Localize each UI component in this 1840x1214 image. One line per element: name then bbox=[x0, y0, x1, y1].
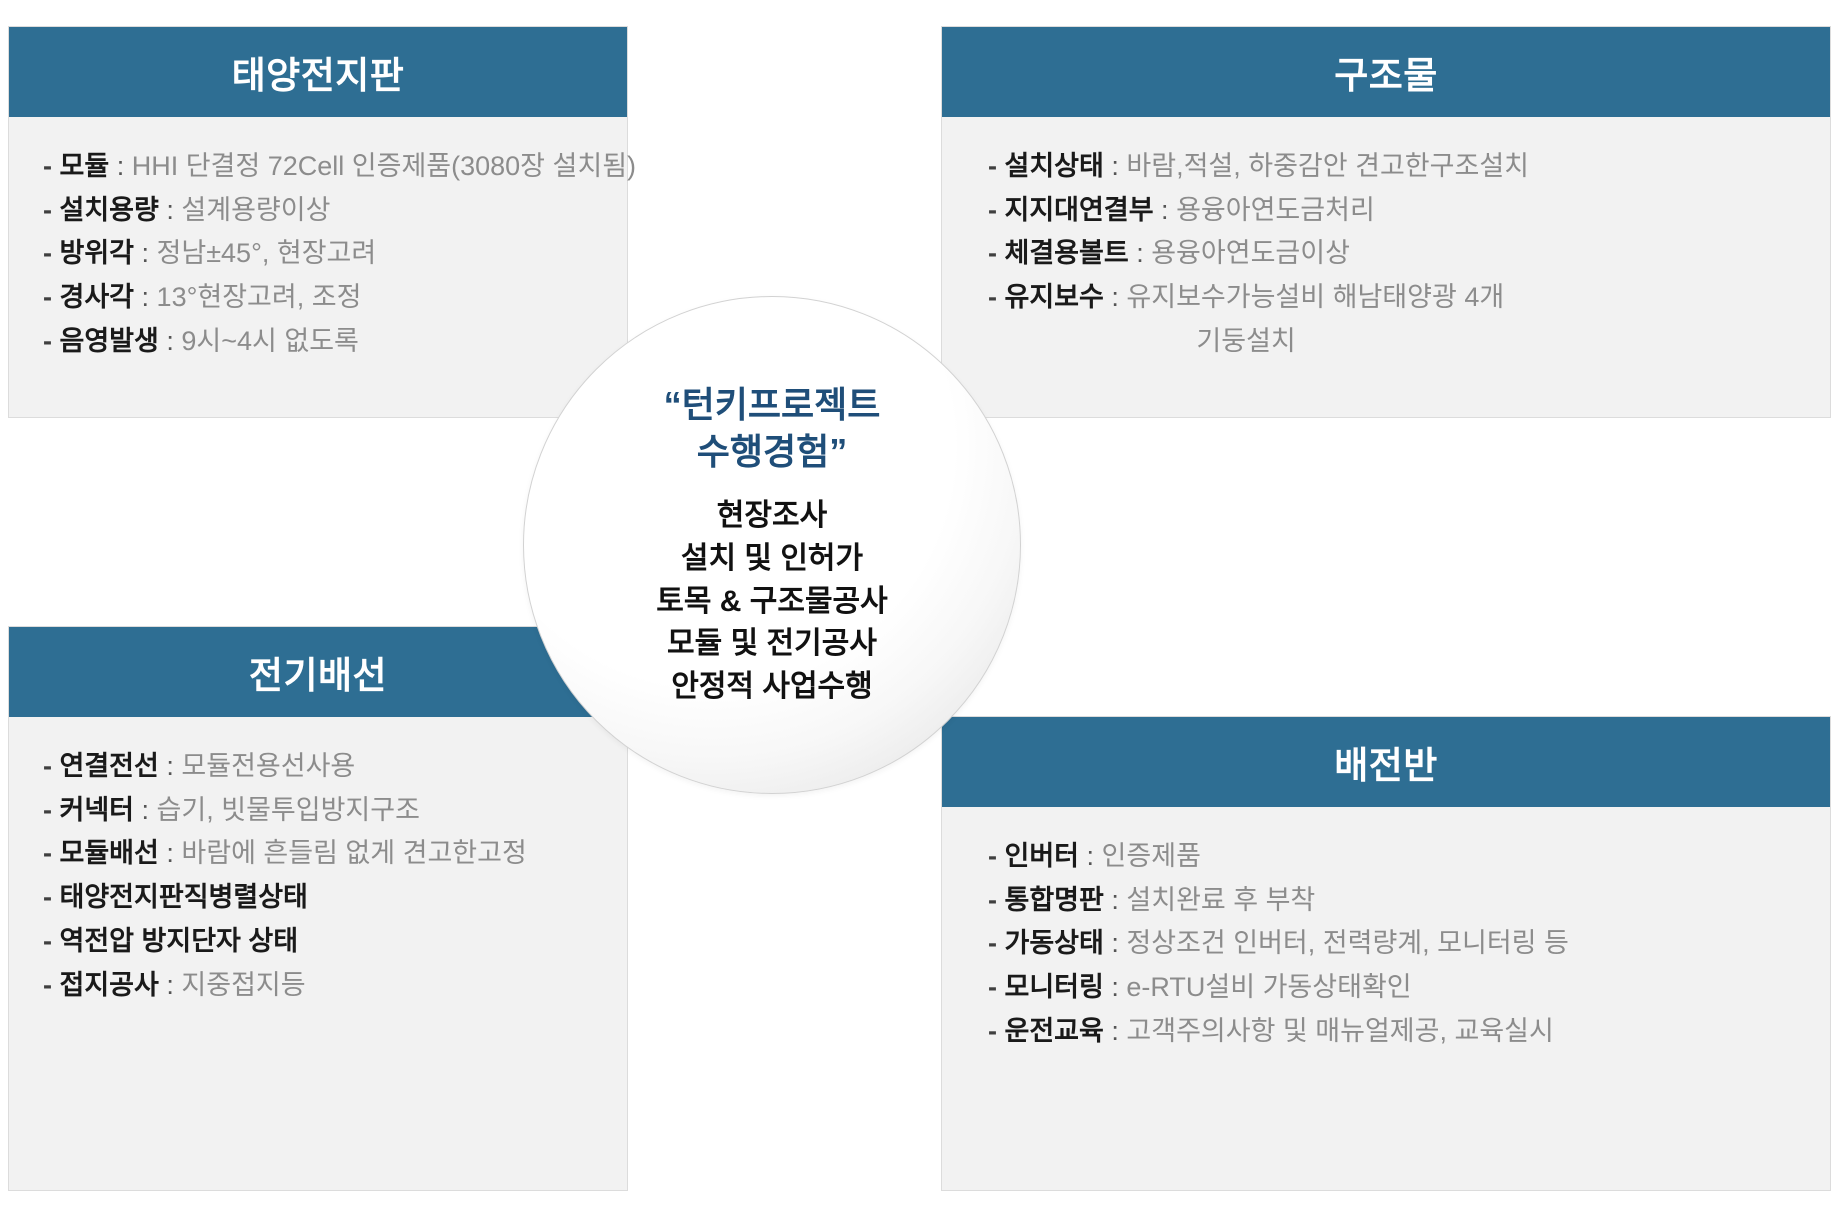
bullet-value-continued: 기둥설치 bbox=[988, 320, 1504, 364]
bullet-item: - 방위각 : 정남±45°, 현장고려 bbox=[43, 232, 376, 276]
bullet-item: - 경사각 : 13°현장고려, 조정 bbox=[43, 276, 361, 320]
bullet-item: - 통합명판 : 설치완료 후 부착 bbox=[988, 879, 1315, 923]
bullet-item: - 설치상태 : 바람,적설, 하중감안 견고한구조설치 bbox=[988, 145, 1529, 189]
bullet-item: - 운전교육 : 고객주의사항 및 매뉴얼제공, 교육실시 bbox=[988, 1010, 1554, 1054]
bullet-key: 연결전선 bbox=[60, 751, 159, 781]
bullet-dash: - bbox=[43, 882, 60, 912]
bullet-dash: - bbox=[988, 151, 1005, 181]
bullet-separator: : bbox=[1104, 972, 1127, 1002]
bullet-item: - 접지공사 : 지중접지등 bbox=[43, 964, 306, 1008]
bullet-separator: : bbox=[1104, 282, 1127, 312]
bullet-value: 설치완료 후 부착 bbox=[1126, 885, 1315, 915]
bullet-dash: - bbox=[43, 282, 60, 312]
center-circle-turnkey: “턴키프로젝트 수행경험” 현장조사설치 및 인허가토목 & 구조물공사모듈 및… bbox=[523, 296, 1021, 794]
bullet-dash: - bbox=[43, 838, 60, 868]
bullet-key: 역전압 방지단자 상태 bbox=[60, 926, 299, 956]
panel-switchboard-title: 배전반 bbox=[942, 717, 1830, 807]
bullet-separator: : bbox=[159, 838, 182, 868]
bullet-item: - 연결전선 : 모듈전용선사용 bbox=[43, 745, 355, 789]
bullet-key: 인버터 bbox=[1005, 841, 1080, 871]
panel-solar-body: - 모듈 : HHI 단결정 72Cell 인증제품(3080장 설치됨)- 설… bbox=[9, 117, 627, 374]
panel-wiring-title: 전기배선 bbox=[9, 627, 627, 717]
panel-solar-title: 태양전지판 bbox=[9, 27, 627, 117]
circle-subtext-line: 현장조사 bbox=[656, 495, 888, 538]
panel-structure-body: - 설치상태 : 바람,적설, 하중감안 견고한구조설치- 지지대연결부 : 용… bbox=[942, 117, 1830, 374]
bullet-value: 바람에 흔들림 없게 견고한고정 bbox=[181, 838, 526, 868]
bullet-key: 커넥터 bbox=[60, 795, 135, 825]
bullet-key: 모니터링 bbox=[1005, 972, 1104, 1002]
bullet-value: 용융아연도금처리 bbox=[1176, 195, 1375, 225]
bullet-item: - 모니터링 : e-RTU설비 가동상태확인 bbox=[988, 966, 1412, 1010]
bullet-dash: - bbox=[43, 970, 60, 1000]
bullet-dash: - bbox=[988, 972, 1005, 1002]
circle-subtext-list: 현장조사설치 및 인허가토목 & 구조물공사모듈 및 전기공사안정적 사업수행 bbox=[656, 495, 888, 708]
bullet-value: 지중접지등 bbox=[181, 970, 305, 1000]
bullet-value: e-RTU설비 가동상태확인 bbox=[1126, 972, 1411, 1002]
bullet-dash: - bbox=[43, 238, 60, 268]
bullet-key: 통합명판 bbox=[1005, 885, 1104, 915]
bullet-item: - 인버터 : 인증제품 bbox=[988, 835, 1201, 879]
bullet-separator: : bbox=[134, 795, 157, 825]
bullet-key: 음영발생 bbox=[60, 326, 159, 356]
panel-switchboard: 배전반 - 인버터 : 인증제품- 통합명판 : 설치완료 후 부착- 가동상태… bbox=[941, 716, 1831, 1191]
circle-subtext-line: 모듈 및 전기공사 bbox=[656, 623, 888, 666]
bullet-separator: : bbox=[134, 238, 157, 268]
bullet-value: 정남±45°, 현장고려 bbox=[157, 238, 377, 268]
bullet-dash: - bbox=[43, 926, 60, 956]
bullet-value: 13°현장고려, 조정 bbox=[157, 282, 362, 312]
bullet-separator: : bbox=[159, 751, 182, 781]
bullet-value: 바람,적설, 하중감안 견고한구조설치 bbox=[1126, 151, 1529, 181]
bullet-separator: : bbox=[1104, 885, 1127, 915]
bullet-separator: : bbox=[1154, 195, 1177, 225]
bullet-key: 운전교육 bbox=[1005, 1016, 1104, 1046]
circle-subtext-line: 설치 및 인허가 bbox=[656, 538, 888, 581]
bullet-item: - 음영발생 : 9시~4시 없도록 bbox=[43, 320, 359, 364]
diagram-canvas: 태양전지판 - 모듈 : HHI 단결정 72Cell 인증제품(3080장 설… bbox=[0, 0, 1840, 1214]
bullet-value: 정상조건 인버터, 전력량계, 모니터링 등 bbox=[1126, 928, 1568, 958]
bullet-separator: : bbox=[159, 970, 182, 1000]
bullet-dash: - bbox=[988, 282, 1005, 312]
bullet-key: 설치상태 bbox=[1005, 151, 1104, 181]
bullet-separator: : bbox=[1079, 841, 1102, 871]
bullet-key: 모듈배선 bbox=[60, 838, 159, 868]
bullet-value: 용융아연도금이상 bbox=[1151, 238, 1350, 268]
bullet-item: - 가동상태 : 정상조건 인버터, 전력량계, 모니터링 등 bbox=[988, 922, 1569, 966]
bullet-dash: - bbox=[988, 928, 1005, 958]
bullet-item: - 모듈배선 : 바람에 흔들림 없게 견고한고정 bbox=[43, 832, 527, 876]
bullet-separator: : bbox=[1129, 238, 1152, 268]
bullet-value: 9시~4시 없도록 bbox=[181, 326, 359, 356]
circle-subtext-line: 토목 & 구조물공사 bbox=[656, 581, 888, 624]
bullet-key: 경사각 bbox=[60, 282, 135, 312]
panel-structure-title: 구조물 bbox=[942, 27, 1830, 117]
bullet-separator: : bbox=[1104, 928, 1127, 958]
panel-wiring-body: - 연결전선 : 모듈전용선사용- 커넥터 : 습기, 빗물투입방지구조- 모듈… bbox=[9, 717, 627, 1017]
bullet-value: 인증제품 bbox=[1102, 841, 1201, 871]
circle-subtext-line: 안정적 사업수행 bbox=[656, 666, 888, 709]
bullet-separator: : bbox=[159, 195, 182, 225]
bullet-key: 체결용볼트 bbox=[1005, 238, 1129, 268]
panel-solar-module: 태양전지판 - 모듈 : HHI 단결정 72Cell 인증제품(3080장 설… bbox=[8, 26, 628, 418]
bullet-key: 접지공사 bbox=[60, 970, 159, 1000]
panel-electrical-wiring: 전기배선 - 연결전선 : 모듈전용선사용- 커넥터 : 습기, 빗물투입방지구… bbox=[8, 626, 628, 1191]
bullet-separator: : bbox=[1104, 151, 1127, 181]
bullet-key: 태양전지판직병렬상태 bbox=[60, 882, 308, 912]
bullet-dash: - bbox=[43, 326, 60, 356]
panel-switchboard-body: - 인버터 : 인증제품- 통합명판 : 설치완료 후 부착- 가동상태 : 정… bbox=[942, 807, 1830, 1064]
bullet-key: 가동상태 bbox=[1005, 928, 1104, 958]
circle-title-line1: “턴키프로젝트 bbox=[664, 384, 881, 425]
bullet-value: 습기, 빗물투입방지구조 bbox=[157, 795, 420, 825]
bullet-item: - 설치용량 : 설계용량이상 bbox=[43, 189, 330, 233]
bullet-value: 설계용량이상 bbox=[181, 195, 330, 225]
bullet-dash: - bbox=[988, 1016, 1005, 1046]
bullet-dash: - bbox=[988, 238, 1005, 268]
bullet-item: - 모듈 : HHI 단결정 72Cell 인증제품(3080장 설치됨) bbox=[43, 145, 636, 189]
bullet-item: - 태양전지판직병렬상태 bbox=[43, 876, 308, 920]
bullet-value: 모듈전용선사용 bbox=[181, 751, 355, 781]
bullet-item: - 역전압 방지단자 상태 bbox=[43, 920, 298, 964]
bullet-dash: - bbox=[43, 795, 60, 825]
bullet-key: 유지보수 bbox=[1005, 282, 1104, 312]
bullet-separator: : bbox=[109, 151, 132, 181]
bullet-dash: - bbox=[43, 195, 60, 225]
circle-title-line2: 수행경험” bbox=[697, 431, 847, 472]
bullet-dash: - bbox=[43, 751, 60, 781]
circle-title: “턴키프로젝트 수행경험” bbox=[664, 382, 881, 476]
bullet-separator: : bbox=[134, 282, 157, 312]
bullet-item: - 체결용볼트 : 용융아연도금이상 bbox=[988, 232, 1350, 276]
bullet-dash: - bbox=[988, 841, 1005, 871]
bullet-key: 방위각 bbox=[60, 238, 135, 268]
bullet-item: - 유지보수 : 유지보수가능설비 해남태양광 4개기둥설치 bbox=[988, 276, 1504, 363]
bullet-key: 설치용량 bbox=[60, 195, 159, 225]
bullet-value: HHI 단결정 72Cell 인증제품(3080장 설치됨) bbox=[132, 151, 636, 181]
bullet-dash: - bbox=[43, 151, 60, 181]
bullet-value: 유지보수가능설비 해남태양광 4개 bbox=[1126, 282, 1504, 312]
bullet-key: 지지대연결부 bbox=[1005, 195, 1154, 225]
bullet-value: 고객주의사항 및 매뉴얼제공, 교육실시 bbox=[1126, 1016, 1553, 1046]
bullet-separator: : bbox=[1104, 1016, 1127, 1046]
bullet-dash: - bbox=[988, 195, 1005, 225]
bullet-separator: : bbox=[159, 326, 182, 356]
bullet-key: 모듈 bbox=[60, 151, 110, 181]
bullet-item: - 지지대연결부 : 용융아연도금처리 bbox=[988, 189, 1375, 233]
bullet-item: - 커넥터 : 습기, 빗물투입방지구조 bbox=[43, 789, 420, 833]
bullet-dash: - bbox=[988, 885, 1005, 915]
panel-structure: 구조물 - 설치상태 : 바람,적설, 하중감안 견고한구조설치- 지지대연결부… bbox=[941, 26, 1831, 418]
